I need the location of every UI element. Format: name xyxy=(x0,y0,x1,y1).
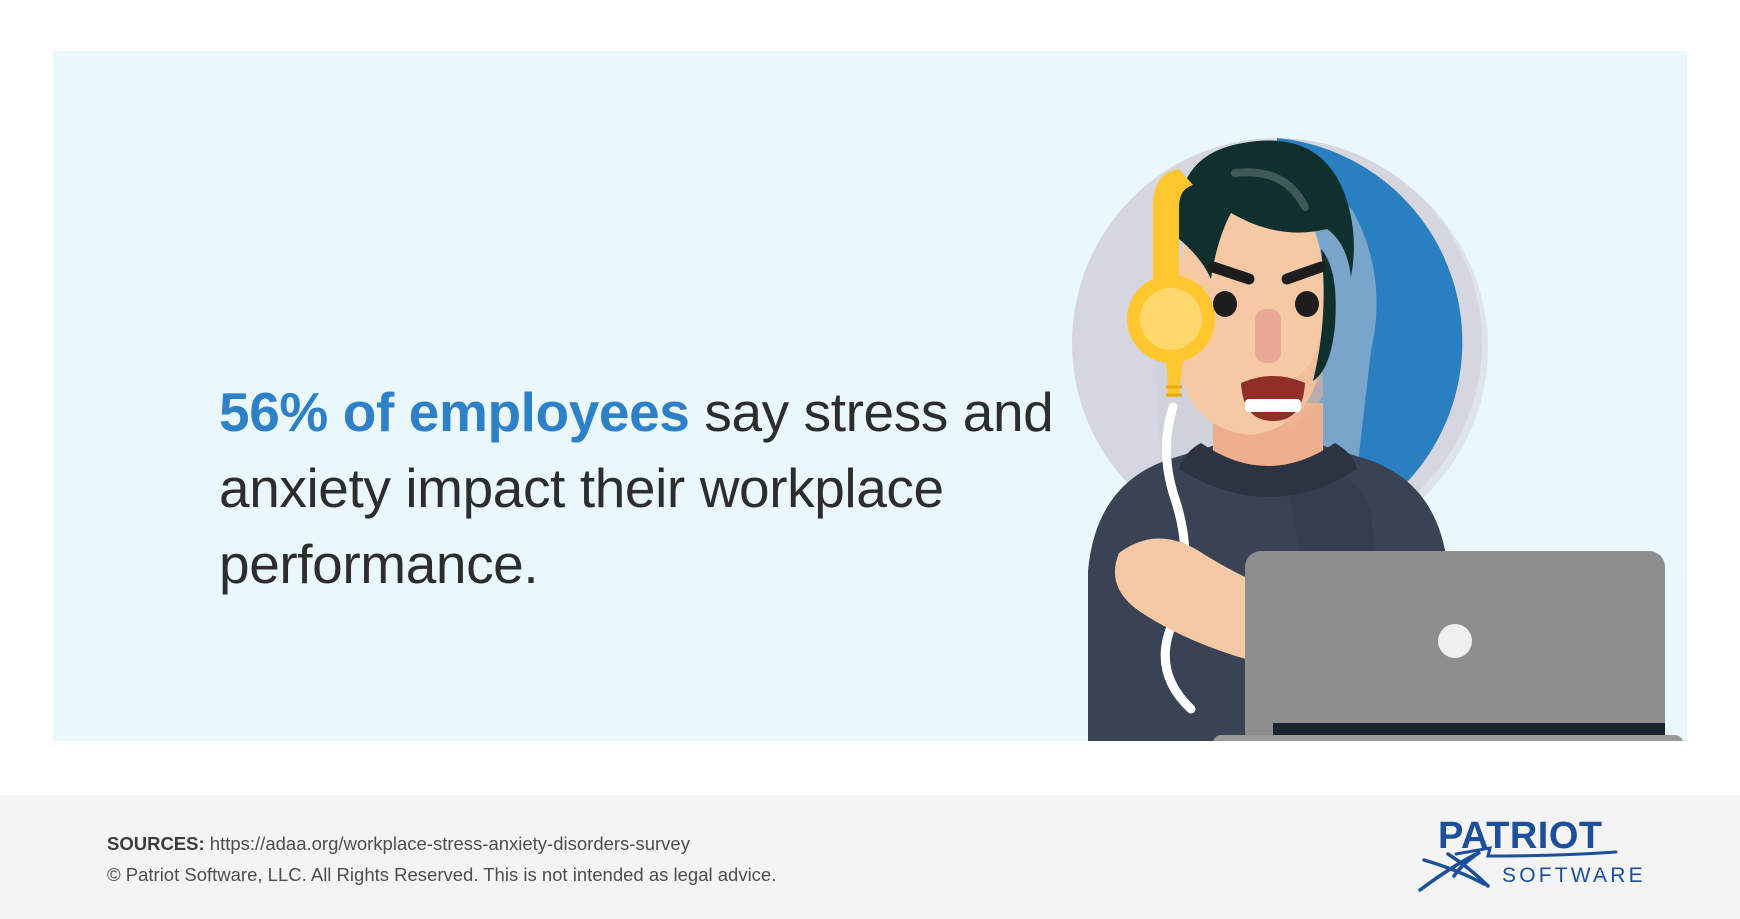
sources-line: SOURCES: https://adaa.org/workplace-stre… xyxy=(107,828,776,859)
copyright-text: © Patriot Software, LLC. All Rights Rese… xyxy=(107,864,776,885)
laptop xyxy=(1213,551,1683,741)
headline-accent: 56% of employees xyxy=(219,381,689,443)
illustration-stressed-employee xyxy=(883,51,1687,741)
sources-label: SOURCES: xyxy=(107,833,205,854)
patriot-software-logo[interactable]: PATRIOT SOFTWARE xyxy=(1418,812,1648,896)
logo-wordmark-patriot: PATRIOT xyxy=(1438,815,1603,857)
sources-url[interactable]: https://adaa.org/workplace-stress-anxiet… xyxy=(210,833,690,854)
infographic-canvas: 56% of employees say stress and anxiety … xyxy=(0,0,1740,919)
logo-wordmark-software: SOFTWARE xyxy=(1502,864,1646,887)
footer-text: SOURCES: https://adaa.org/workplace-stre… xyxy=(107,828,776,890)
hero-panel: 56% of employees say stress and anxiety … xyxy=(53,51,1687,741)
copyright-line: © Patriot Software, LLC. All Rights Rese… xyxy=(107,859,776,890)
